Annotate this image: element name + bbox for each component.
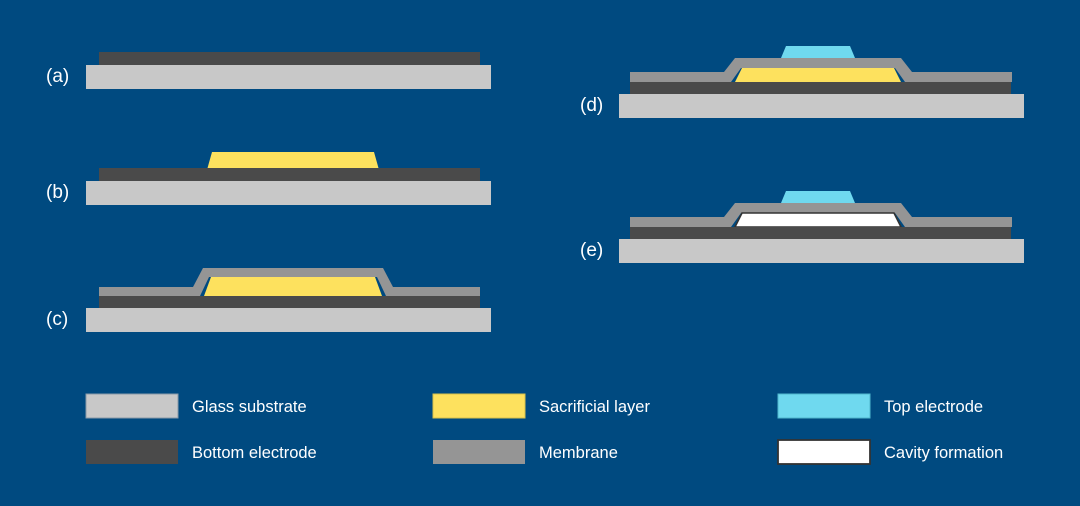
legend-swatch-bottom-electrode [86,440,178,464]
panel-a: (a) [46,52,491,89]
panel-b-glass-substrate [86,181,491,205]
panel-b-bottom-electrode [99,168,480,181]
panel-d-label: (d) [580,95,603,116]
process-flow-diagram: (a) (b) (c) (d) [0,0,1080,506]
panel-d-sacrificial-layer [735,68,901,82]
legend-swatch-glass-substrate [86,394,178,418]
legend-label-glass-substrate: Glass substrate [192,398,307,416]
figure-canvas: (a) (b) (c) (d) [0,0,1080,506]
legend-item-glass-substrate: Glass substrate [86,394,307,418]
legend-swatch-membrane [433,440,525,464]
panel-d-bottom-electrode [630,82,1011,94]
panel-e-top-electrode [781,191,855,203]
panel-c-label: (c) [46,309,68,330]
panel-e-bottom-electrode [630,227,1011,239]
panel-c-sacrificial-layer [204,277,382,296]
legend-item-bottom-electrode: Bottom electrode [86,440,317,464]
legend-swatch-sacrificial-layer [433,394,525,418]
legend-label-top-electrode: Top electrode [884,398,983,416]
panel-a-bottom-electrode [99,52,480,65]
panel-e-cavity-formation [735,213,901,227]
panel-d-top-electrode [781,46,855,58]
legend-item-cavity-formation: Cavity formation [778,440,1003,464]
panel-a-label: (a) [46,66,69,87]
panel-e-label: (e) [580,240,603,261]
legend-label-cavity-formation: Cavity formation [884,444,1003,462]
legend-item-sacrificial-layer: Sacrificial layer [433,394,650,418]
legend-label-membrane: Membrane [539,444,618,462]
panel-a-glass-substrate [86,65,491,89]
legend-label-sacrificial-layer: Sacrificial layer [539,398,650,416]
panel-c-bottom-electrode [99,296,480,308]
legend-label-bottom-electrode: Bottom electrode [192,444,317,462]
legend-swatch-top-electrode [778,394,870,418]
legend-swatch-cavity-formation [778,440,870,464]
panel-d-glass-substrate [619,94,1024,118]
panel-c-glass-substrate [86,308,491,332]
panel-b-label: (b) [46,182,69,203]
panel-e-glass-substrate [619,239,1024,263]
